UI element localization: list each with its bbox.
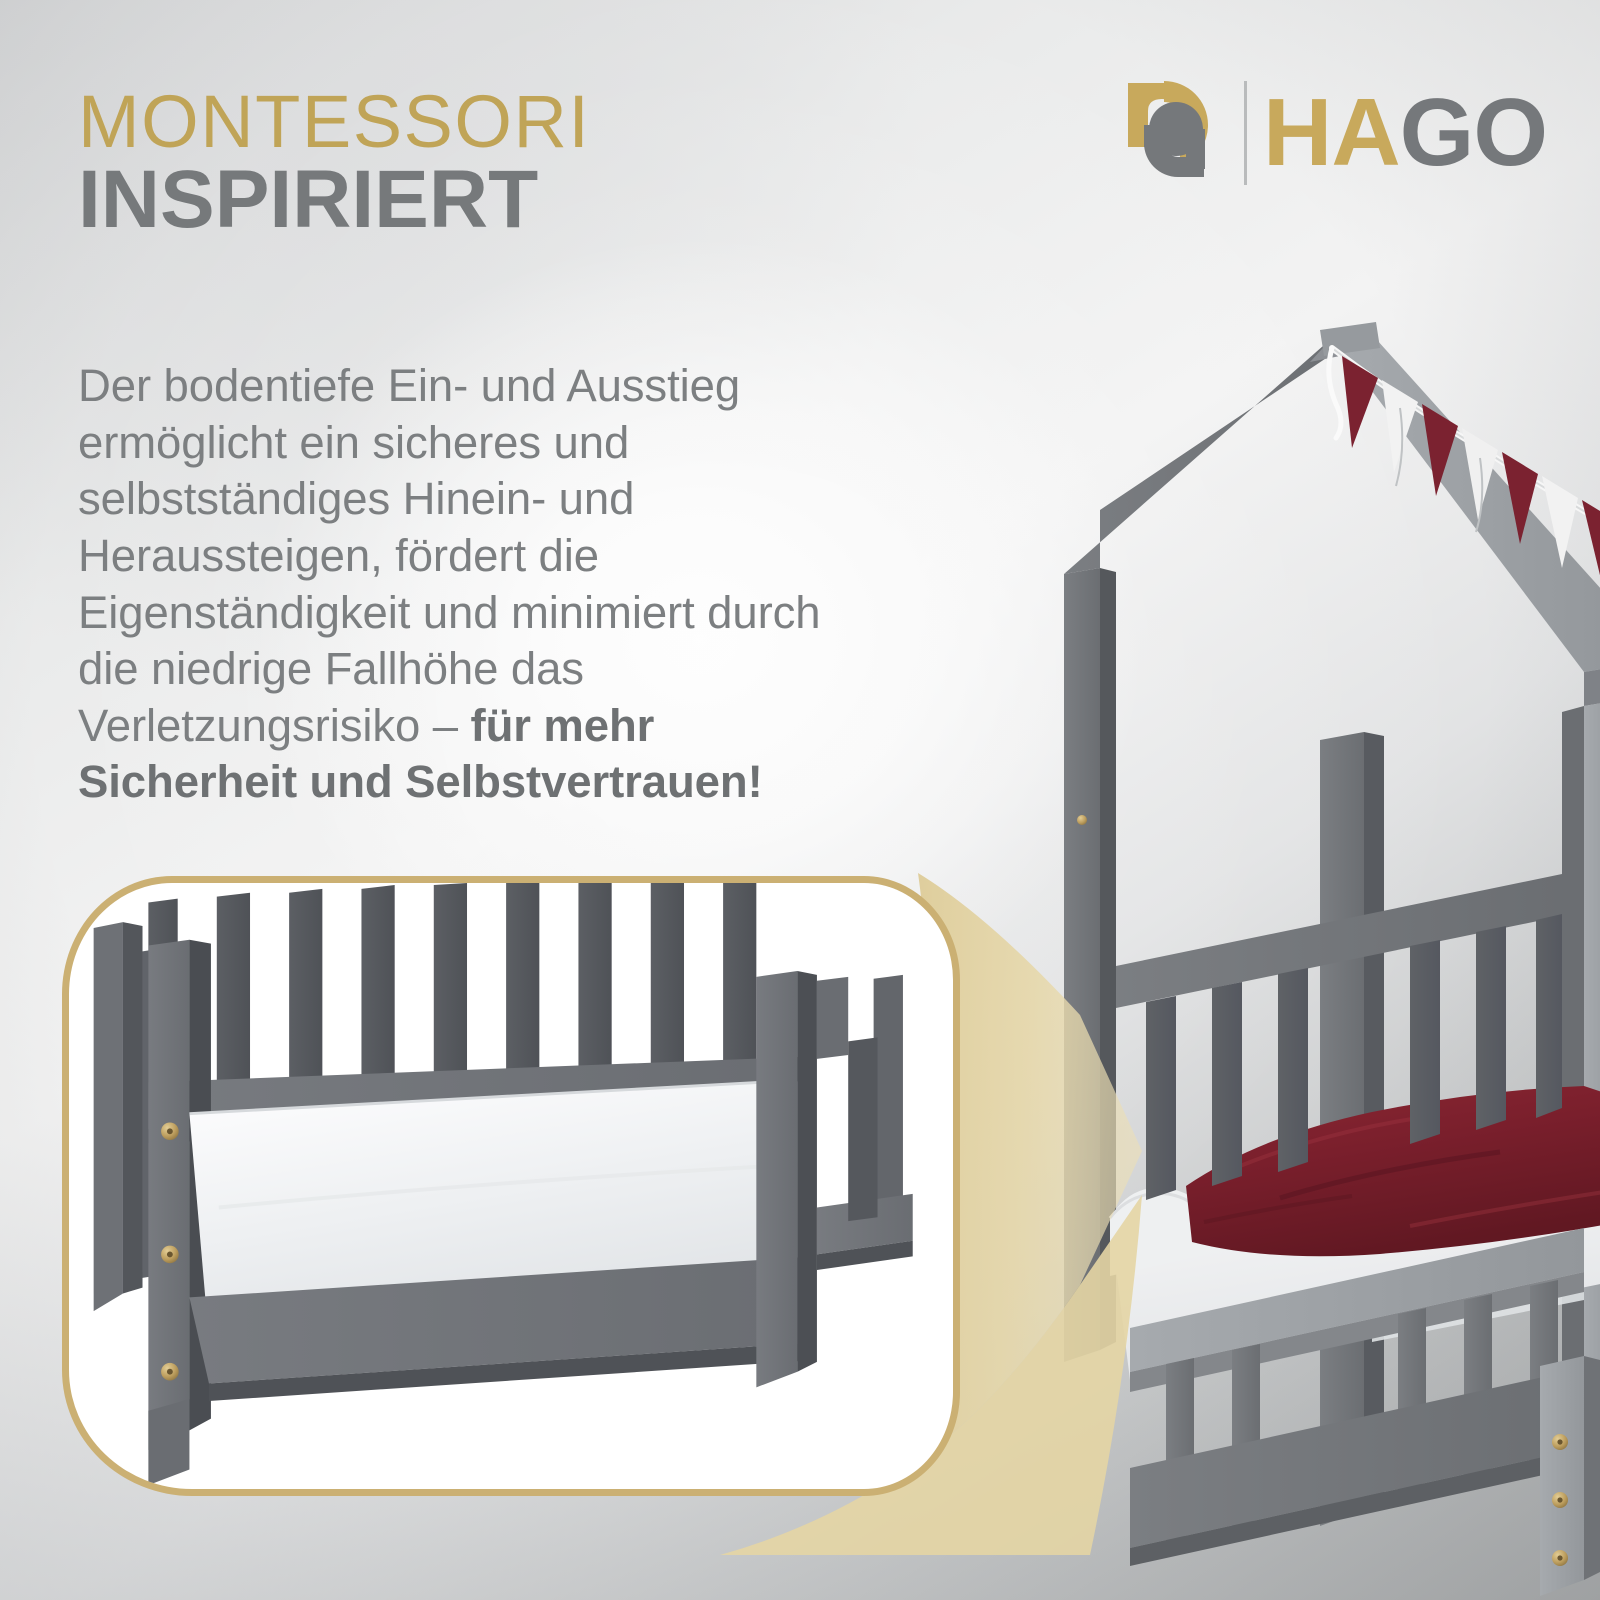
callout-frame (62, 876, 960, 1496)
logo-divider (1244, 81, 1247, 185)
callout-low-entry-post (756, 971, 912, 1387)
brand-logo: HAGO (1118, 74, 1547, 192)
hago-mark-icon (1118, 77, 1236, 189)
detail-callout-zoom-box (62, 876, 960, 1496)
logo-word-ha: HA (1263, 85, 1400, 181)
headline-block: MONTESSORI INSPIRIERT (78, 86, 590, 241)
logo-wordmark: HAGO (1263, 85, 1547, 181)
roof-left-gable (1064, 330, 1368, 574)
body-paragraph: Der bodentiefe Ein- und Ausstieg ermögli… (78, 358, 838, 811)
frame-post-right (1562, 700, 1600, 1442)
callout-post-left-foot (148, 1399, 189, 1485)
logo-word-go: GO (1400, 85, 1547, 181)
body-text-regular: Der bodentiefe Ein- und Ausstieg ermögli… (78, 360, 821, 751)
headline-line-2: INSPIRIERT (78, 159, 590, 241)
frame-post-foot-right (1540, 1356, 1600, 1596)
headline-line-1: MONTESSORI (78, 86, 590, 157)
